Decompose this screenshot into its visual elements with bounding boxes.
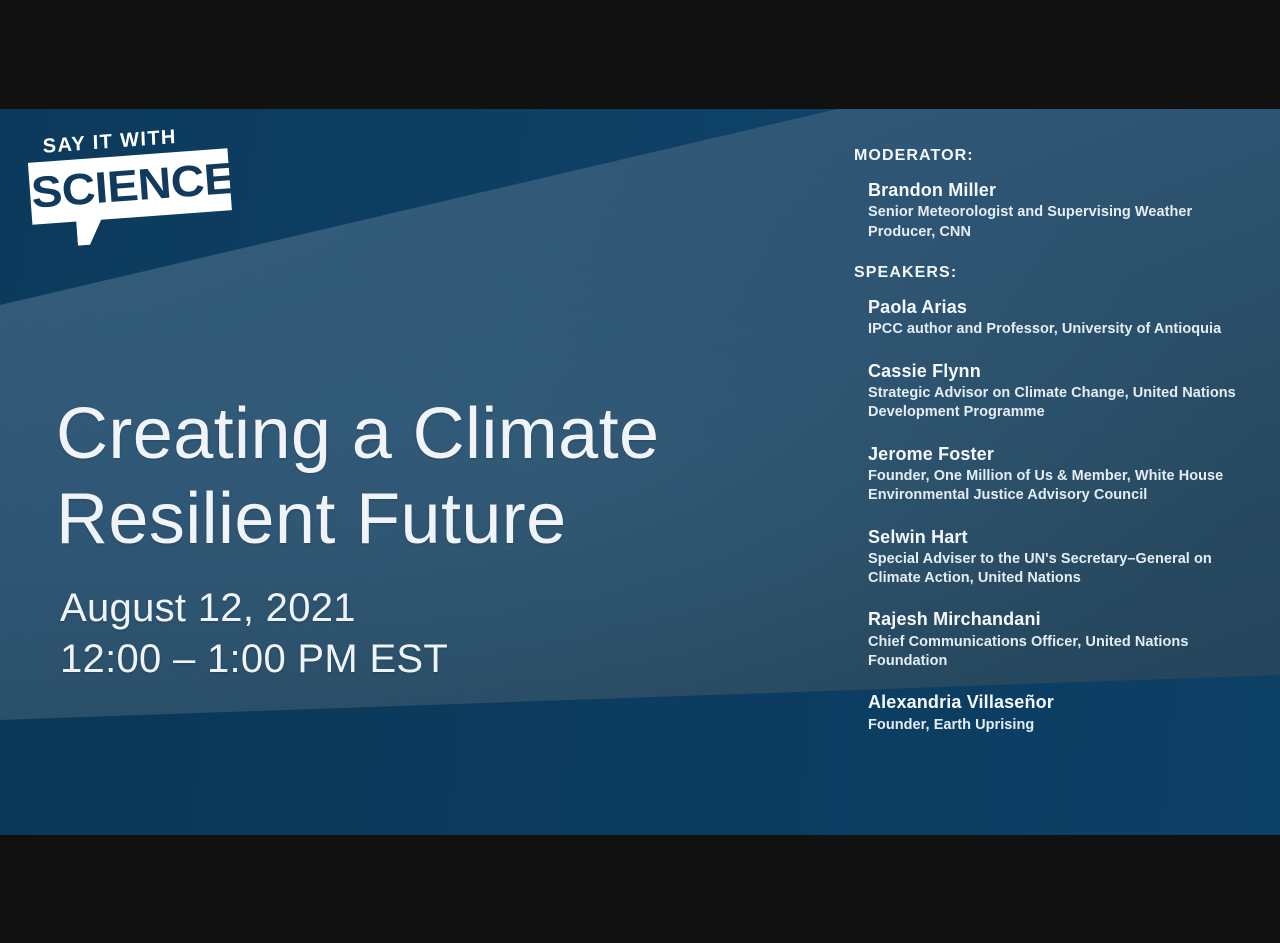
participant-title: Strategic Advisor on Climate Change, Uni… [868, 384, 1244, 423]
participant-name: Rajesh Mirchandani [868, 608, 1244, 631]
event-date: August 12, 2021 [60, 583, 448, 634]
participant-entry: Jerome Foster Founder, One Million of Us… [868, 443, 1244, 506]
moderator-heading: MODERATOR: [854, 147, 1244, 165]
participant-title: Founder, Earth Uprising [868, 716, 1244, 735]
participant-name: Brandon Miller [868, 179, 1244, 202]
participant-entry: Paola Arias IPCC author and Professor, U… [868, 296, 1244, 340]
participants-panel: MODERATOR: Brandon Miller Senior Meteoro… [854, 147, 1244, 735]
presentation-slide: SAY IT WITH SCIENCE Creating a Climate R… [0, 109, 1280, 835]
participant-entry: Brandon Miller Senior Meteorologist and … [868, 179, 1244, 242]
participant-title: Founder, One Million of Us & Member, Whi… [868, 467, 1244, 506]
participant-entry: Alexandria Villaseñor Founder, Earth Upr… [868, 691, 1244, 735]
participant-name: Alexandria Villaseñor [868, 691, 1244, 714]
participant-title: Special Adviser to the UN's Secretary–Ge… [868, 550, 1244, 589]
participant-name: Paola Arias [868, 296, 1244, 319]
participant-name: Cassie Flynn [868, 360, 1244, 383]
event-schedule: August 12, 2021 12:00 – 1:00 PM EST [60, 583, 448, 685]
participant-name: Selwin Hart [868, 526, 1244, 549]
speakers-heading: SPEAKERS: [854, 264, 1244, 282]
speakers-list: Paola Arias IPCC author and Professor, U… [854, 296, 1244, 735]
letterbox-bar-bottom [0, 835, 1280, 943]
speech-bubble-tail-icon [76, 218, 104, 246]
event-time: 12:00 – 1:00 PM EST [60, 634, 448, 685]
letterbox-bar-top [0, 0, 1280, 109]
participant-entry: Selwin Hart Special Adviser to the UN's … [868, 526, 1244, 589]
headline-line-2: Resilient Future [56, 477, 816, 562]
slide-headline: Creating a Climate Resilient Future [56, 392, 816, 562]
participant-title: Chief Communications Officer, United Nat… [868, 633, 1244, 672]
participant-entry: Rajesh Mirchandani Chief Communications … [868, 608, 1244, 671]
headline-line-1: Creating a Climate [56, 394, 659, 474]
participant-title: Senior Meteorologist and Supervising Wea… [868, 203, 1244, 242]
moderator-list: Brandon Miller Senior Meteorologist and … [854, 179, 1244, 242]
video-player-stage: SAY IT WITH SCIENCE Creating a Climate R… [0, 0, 1280, 943]
participant-title: IPCC author and Professor, University of… [868, 320, 1244, 339]
participant-name: Jerome Foster [868, 443, 1244, 466]
say-it-with-science-logo: SAY IT WITH SCIENCE [26, 121, 250, 266]
participant-entry: Cassie Flynn Strategic Advisor on Climat… [868, 360, 1244, 423]
